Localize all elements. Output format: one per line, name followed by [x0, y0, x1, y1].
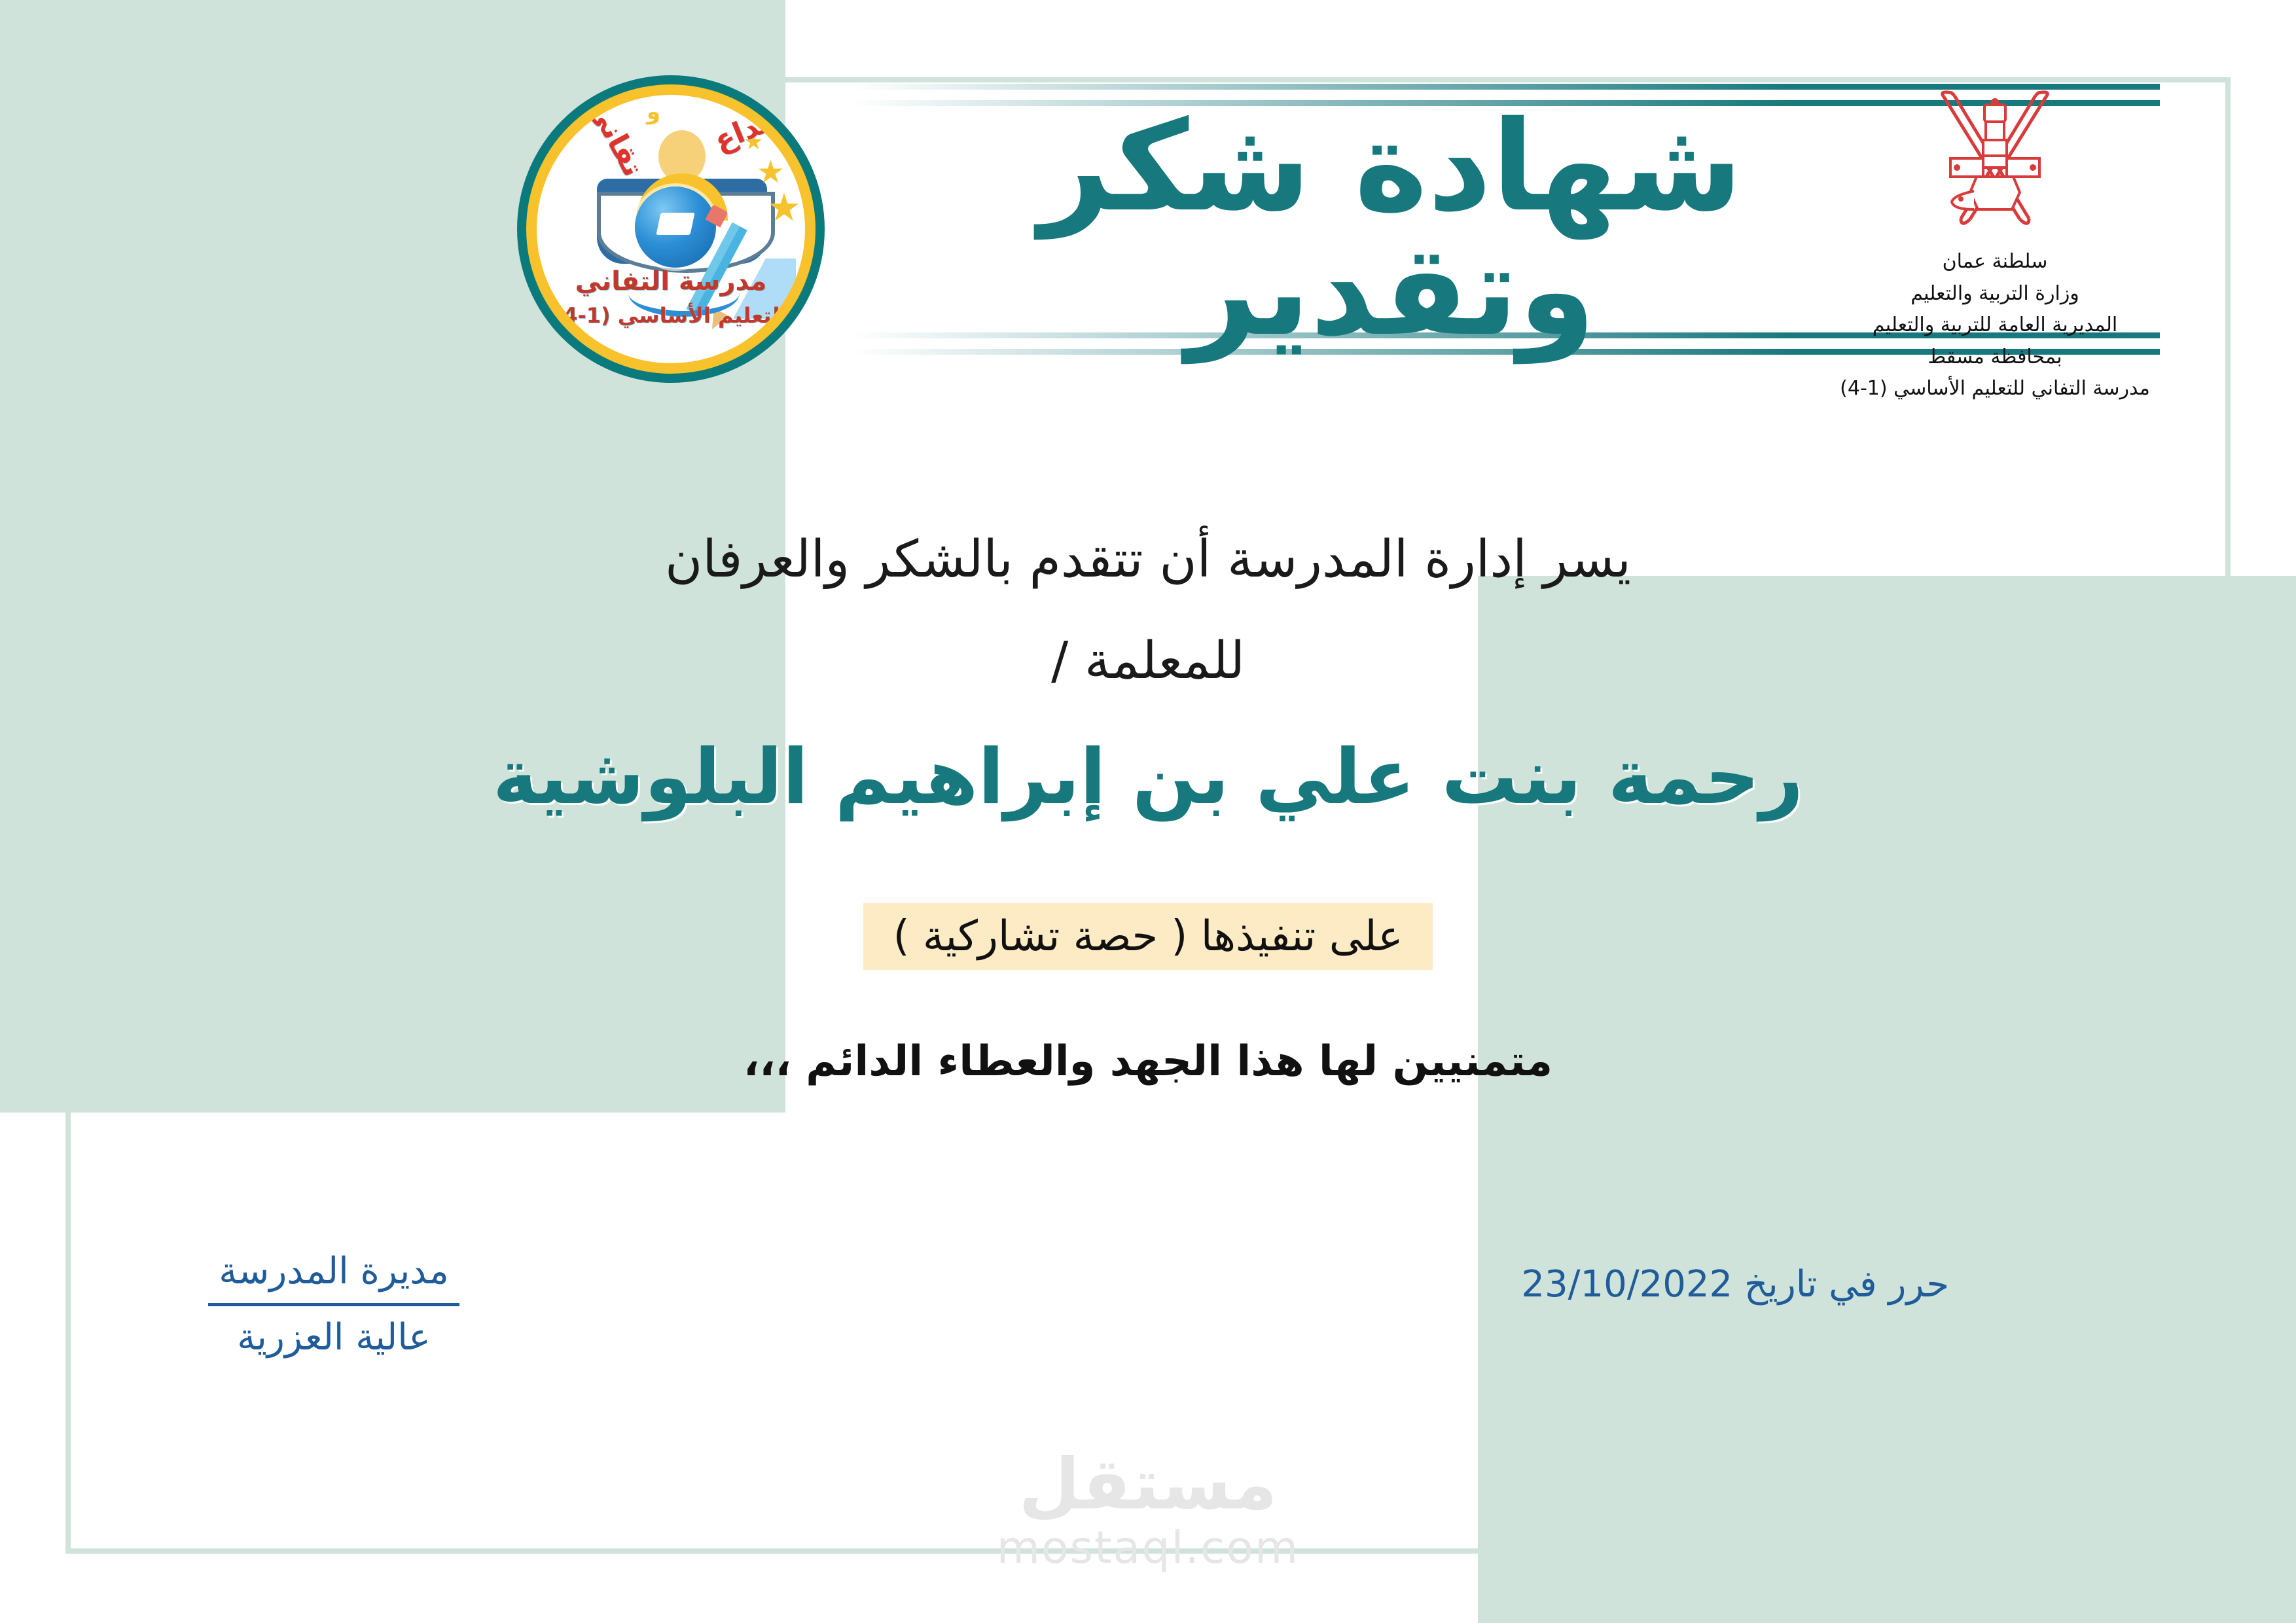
laptop-icon — [656, 213, 694, 235]
frame-border-bottom — [65, 1548, 2231, 1554]
oman-emblem-icon — [1792, 85, 2198, 242]
logo-school-name: مدرسة التفاني — [537, 266, 805, 296]
frame-border-top — [65, 77, 2231, 82]
ministry-line-country: سلطنة عمان — [1792, 246, 2198, 278]
reason-highlight-row: على تنفيذها ( حصة تشاركية ) — [0, 903, 2296, 970]
ministry-line-ministry: وزارة التربية والتعليم — [1792, 278, 2198, 310]
logo-slogan-conj: و — [647, 99, 660, 125]
signature-name: عالية العزرية — [196, 1313, 471, 1363]
corner-decoration-bottom-right-yellow — [1504, 766, 2296, 1623]
ministry-line-governorate: بمحافظة مسقط — [1792, 342, 2198, 374]
signature-role: مديرة المدرسة — [196, 1247, 471, 1296]
logo-face: ★ ★ ★ و إبداع تقاني مدرسة التفاني للتعلي… — [537, 95, 805, 363]
reason-text: على تنفيذها ( حصة تشاركية ) — [863, 903, 1433, 970]
ministry-line-directorate: المديرية العامة للتربية والتعليم — [1792, 310, 2198, 342]
star-icon-3: ★ — [767, 185, 801, 230]
signature-rule — [208, 1303, 459, 1306]
issue-date: حرر في تاريخ 23/10/2022 — [1521, 1263, 1949, 1306]
ministry-header: سلطنة عمان وزارة التربية والتعليم المدير… — [1792, 85, 2198, 405]
wishes-text: متمنيين لها هذا الجهد والعطاء الدائم ،،، — [0, 1037, 2296, 1086]
watermark: مستقل mostaql.com — [0, 1450, 2296, 1576]
school-logo: ★ ★ ★ و إبداع تقاني مدرسة التفاني للتعلي… — [517, 75, 825, 383]
recipient-name: رحمة بنت علي بن إبراهيم البلوشية — [0, 733, 2296, 821]
logo-school-stage: للتعليم الأساسي (1-4) — [537, 303, 805, 328]
globe-icon — [635, 187, 716, 268]
watermark-arabic: مستقل — [0, 1450, 2296, 1520]
ministry-line-school: مدرسة التفاني للتعليم الأساسي (1-4) — [1792, 373, 2198, 405]
logo-slogan-right: تقاني — [582, 95, 650, 182]
certificate-page: ★ ★ ★ و إبداع تقاني مدرسة التفاني للتعلي… — [0, 0, 2296, 1623]
recipient-label: للمعلمة / — [0, 632, 2296, 690]
signature-block: مديرة المدرسة عالية العزرية — [196, 1247, 471, 1362]
logo-artwork: ★ ★ ★ و إبداع تقاني مدرسة التفاني للتعلي… — [537, 95, 805, 363]
certificate-title: شهادة شكر وتقدير — [1021, 105, 1761, 353]
intro-text: يسر إدارة المدرسة أن تتقدم بالشكر والعرف… — [0, 530, 2296, 589]
